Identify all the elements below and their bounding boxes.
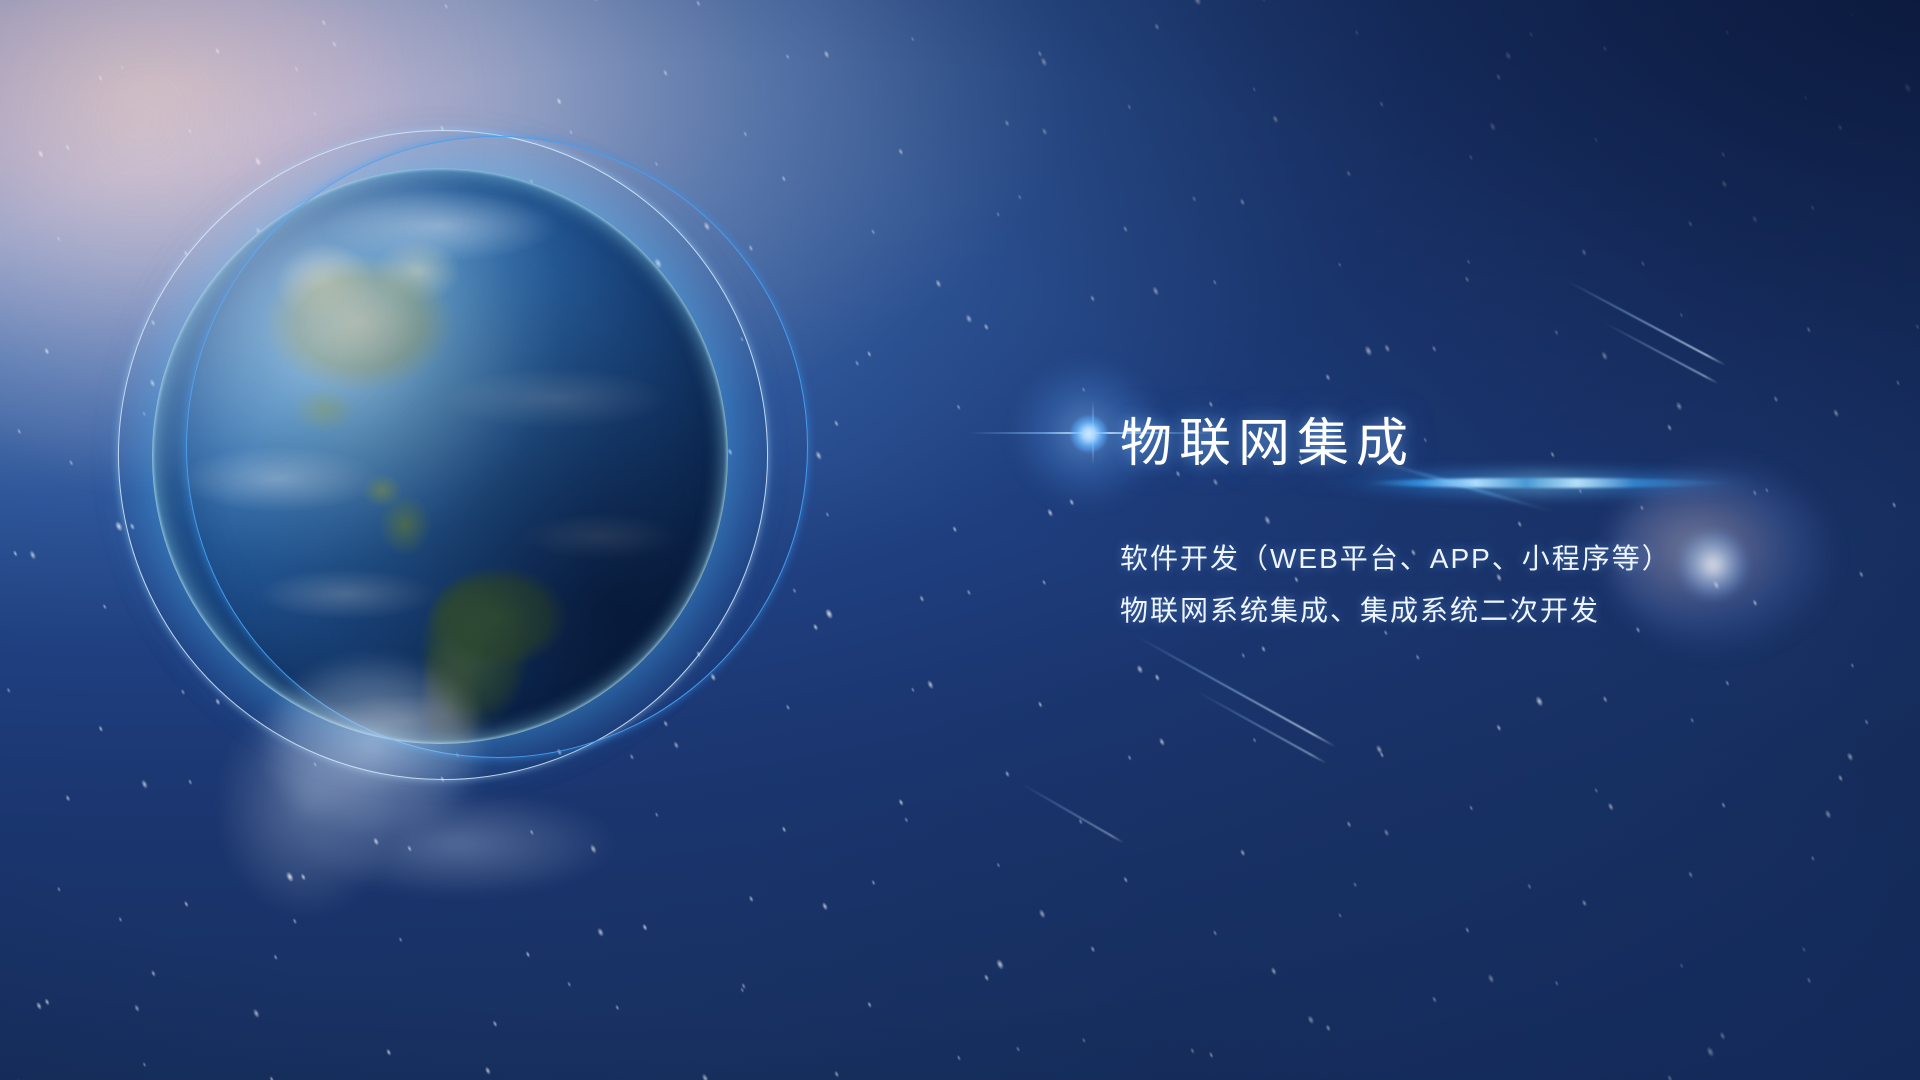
banner-copy: 物联网集成 软件开发（WEB平台、APP、小程序等） 物联网系统集成、集成系统二…	[1120, 418, 1672, 634]
hero-banner: 物联网集成 软件开发（WEB平台、APP、小程序等） 物联网系统集成、集成系统二…	[0, 0, 1920, 1080]
banner-subtitle-line-2: 物联网系统集成、集成系统二次开发	[1120, 588, 1672, 634]
page-title: 物联网集成	[1120, 418, 1672, 470]
banner-subtitle-line-1: 软件开发（WEB平台、APP、小程序等）	[1120, 536, 1672, 582]
